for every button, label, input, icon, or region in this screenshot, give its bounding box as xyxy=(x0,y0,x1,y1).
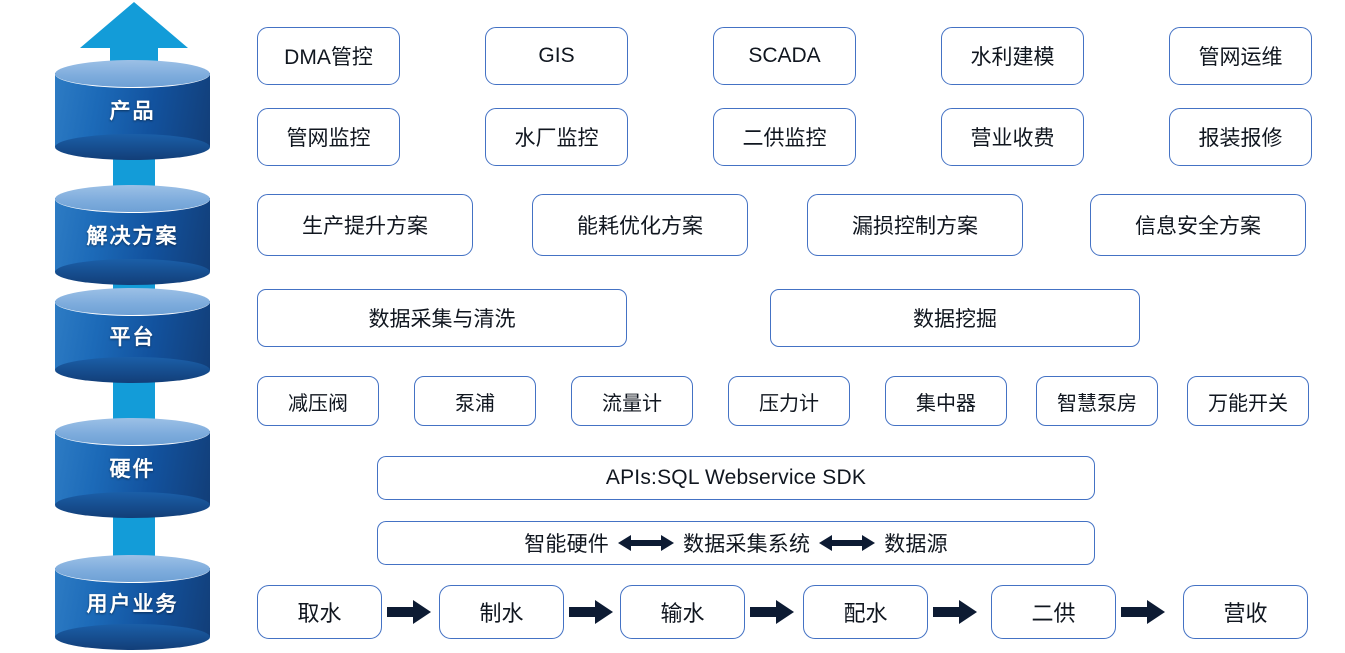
layer-label: 产品 xyxy=(55,95,210,125)
cylinder-bottom xyxy=(55,134,210,160)
process-arrow-icon xyxy=(933,599,977,625)
layer-cylinder-solution[interactable]: 解决方案 xyxy=(55,185,210,285)
hardware-box-pressure-reducing-valve[interactable]: 减压阀 xyxy=(257,376,379,426)
process-box-secondary-supply[interactable]: 二供 xyxy=(991,585,1116,639)
layer-label: 解决方案 xyxy=(55,220,210,250)
apis-bar[interactable]: APIs:SQL Webservice SDK xyxy=(377,456,1095,500)
data-chain-bar[interactable]: 智能硬件 数据采集系统 数据源 xyxy=(377,521,1095,565)
product-box-billing[interactable]: 营业收费 xyxy=(941,108,1084,166)
hardware-box-smart-pump-room[interactable]: 智慧泵房 xyxy=(1036,376,1158,426)
layer-label: 用户业务 xyxy=(55,588,210,618)
double-arrow-icon xyxy=(618,534,674,552)
cylinder-bottom xyxy=(55,624,210,650)
hardware-box-universal-switch[interactable]: 万能开关 xyxy=(1187,376,1309,426)
product-box-plant-monitor[interactable]: 水厂监控 xyxy=(485,108,628,166)
solution-box-leakage-control[interactable]: 漏损控制方案 xyxy=(807,194,1023,256)
process-box-transmission[interactable]: 输水 xyxy=(620,585,745,639)
product-box-hydraulic-modeling[interactable]: 水利建模 xyxy=(941,27,1084,85)
double-arrow-icon xyxy=(819,534,875,552)
data-chain-smart-hardware: 智能硬件 xyxy=(524,528,609,558)
process-box-distribution[interactable]: 配水 xyxy=(803,585,928,639)
solution-box-energy-optimization[interactable]: 能耗优化方案 xyxy=(532,194,748,256)
layer-cylinder-platform[interactable]: 平台 xyxy=(55,288,210,383)
layer-label: 硬件 xyxy=(55,453,210,483)
hardware-box-pressure-gauge[interactable]: 压力计 xyxy=(728,376,850,426)
upward-arrow-icon xyxy=(80,2,188,64)
platform-box-data-collection-cleaning[interactable]: 数据采集与清洗 xyxy=(257,289,627,347)
cylinder-bottom xyxy=(55,357,210,383)
process-arrow-icon xyxy=(569,599,613,625)
cylinder-top xyxy=(55,555,210,583)
hardware-box-pump[interactable]: 泵浦 xyxy=(414,376,536,426)
process-box-intake[interactable]: 取水 xyxy=(257,585,382,639)
process-arrow-icon xyxy=(387,599,431,625)
solution-box-production-improvement[interactable]: 生产提升方案 xyxy=(257,194,473,256)
cylinder-top xyxy=(55,60,210,88)
product-box-pipe-network-ops[interactable]: 管网运维 xyxy=(1169,27,1312,85)
architecture-diagram: 产品 解决方案 平台 硬件 用户业务 DMA管控 GIS S xyxy=(0,0,1345,653)
process-box-treatment[interactable]: 制水 xyxy=(439,585,564,639)
product-box-pipe-monitor[interactable]: 管网监控 xyxy=(257,108,400,166)
cylinder-top xyxy=(55,418,210,446)
hardware-box-flow-meter[interactable]: 流量计 xyxy=(571,376,693,426)
solution-box-information-security[interactable]: 信息安全方案 xyxy=(1090,194,1306,256)
product-box-install-repair[interactable]: 报装报修 xyxy=(1169,108,1312,166)
cylinder-top xyxy=(55,288,210,316)
layer-pillar: 产品 解决方案 平台 硬件 用户业务 xyxy=(0,0,250,653)
layer-cylinder-hardware[interactable]: 硬件 xyxy=(55,418,210,518)
cylinder-bottom xyxy=(55,259,210,285)
product-box-dma[interactable]: DMA管控 xyxy=(257,27,400,85)
product-box-scada[interactable]: SCADA xyxy=(713,27,856,85)
layer-cylinder-user-business[interactable]: 用户业务 xyxy=(55,555,210,650)
data-chain-collection-system: 数据采集系统 xyxy=(683,528,810,558)
product-box-secondary-supply-monitor[interactable]: 二供监控 xyxy=(713,108,856,166)
cylinder-top xyxy=(55,185,210,213)
hardware-box-concentrator[interactable]: 集中器 xyxy=(885,376,1007,426)
process-arrow-icon xyxy=(750,599,794,625)
cylinder-bottom xyxy=(55,492,210,518)
process-box-revenue[interactable]: 营收 xyxy=(1183,585,1308,639)
layer-label: 平台 xyxy=(55,321,210,351)
process-arrow-icon xyxy=(1121,599,1165,625)
data-chain-data-source: 数据源 xyxy=(884,528,948,558)
product-box-gis[interactable]: GIS xyxy=(485,27,628,85)
platform-box-data-mining[interactable]: 数据挖掘 xyxy=(770,289,1140,347)
layer-cylinder-product[interactable]: 产品 xyxy=(55,60,210,160)
